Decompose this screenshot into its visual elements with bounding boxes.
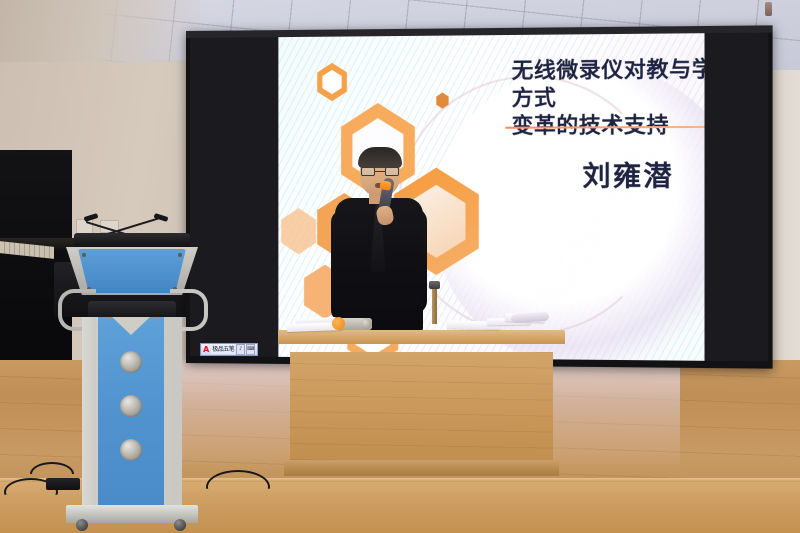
lectern-screw	[178, 253, 182, 257]
slide-title-line-1: 无线微录仪对教与学方式	[512, 56, 705, 112]
lectern-emblem	[120, 351, 142, 373]
desk-panel	[290, 352, 553, 460]
ime-language-bar[interactable]: A 极品五笔 ♪ ⌨	[200, 343, 258, 356]
ime-soft-keyboard-icon[interactable]: ♪	[236, 344, 245, 355]
sprinkler-icon	[765, 2, 772, 16]
slide-author-name: 刘雍潜	[582, 154, 673, 194]
presenter-hair	[358, 147, 402, 168]
presentation-room-photo: 无线微录仪对教与学方式 变革的技术支持 刘雍潜 A 极品五笔 ♪ ⌨	[0, 0, 800, 533]
wooden-desk	[278, 330, 565, 490]
presenter	[333, 150, 425, 332]
lectern-emblem	[120, 439, 142, 461]
desk-kickplate	[284, 462, 559, 476]
lectern-top-bar	[74, 233, 190, 247]
lectern-screw	[82, 253, 86, 257]
caster-wheel	[76, 519, 88, 531]
device-knob	[361, 318, 372, 329]
desk-surface	[278, 330, 565, 344]
lectern-emblem	[120, 395, 142, 417]
mobile-lectern[interactable]	[62, 243, 202, 513]
lectern-top-panel	[78, 249, 186, 293]
screen-letterbox-right	[705, 33, 769, 362]
caster-wheel	[174, 519, 186, 531]
projection-screen[interactable]: 无线微录仪对教与学方式 变革的技术支持 刘雍潜	[186, 25, 773, 368]
ime-keyboard-icon[interactable]: ⌨	[246, 344, 255, 355]
device-orange-knob	[332, 317, 345, 330]
microphone-stand-head	[429, 281, 440, 289]
microphone-band	[379, 180, 391, 191]
ime-mode-indicator[interactable]: A	[202, 346, 210, 354]
desk-device	[336, 318, 372, 330]
microphone-stand	[432, 286, 437, 324]
ime-name-label[interactable]: 极品五笔	[211, 345, 235, 353]
eyeglasses-icon	[361, 167, 399, 176]
power-adapter	[46, 478, 80, 490]
